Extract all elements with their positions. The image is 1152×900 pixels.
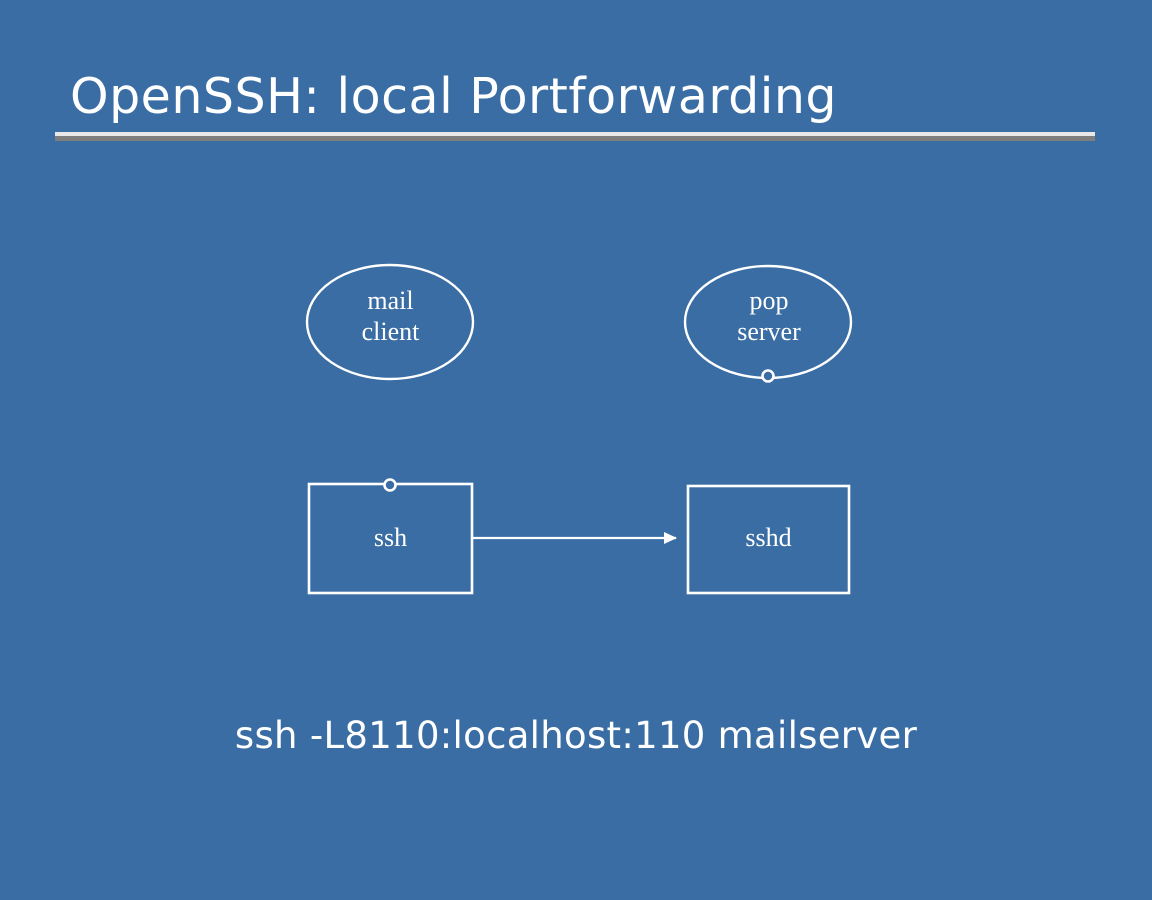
- page-title: OpenSSH: local Portforwarding: [70, 66, 1100, 128]
- title-divider: [55, 132, 1095, 143]
- pop-server-handle-icon[interactable]: [763, 371, 774, 382]
- node-label-pop-server: pop server: [686, 285, 852, 347]
- node-label-sshd: sshd: [688, 522, 849, 553]
- node-label-ssh: ssh: [309, 522, 472, 553]
- ssh-handle-icon[interactable]: [385, 480, 396, 491]
- slide: OpenSSH: local Portforwarding mail clien…: [0, 0, 1152, 900]
- node-label-mail-client: mail client: [307, 285, 474, 347]
- command-caption: ssh -L8110:localhost:110 mailserver: [0, 712, 1152, 760]
- title-divider-shadow: [55, 136, 1095, 141]
